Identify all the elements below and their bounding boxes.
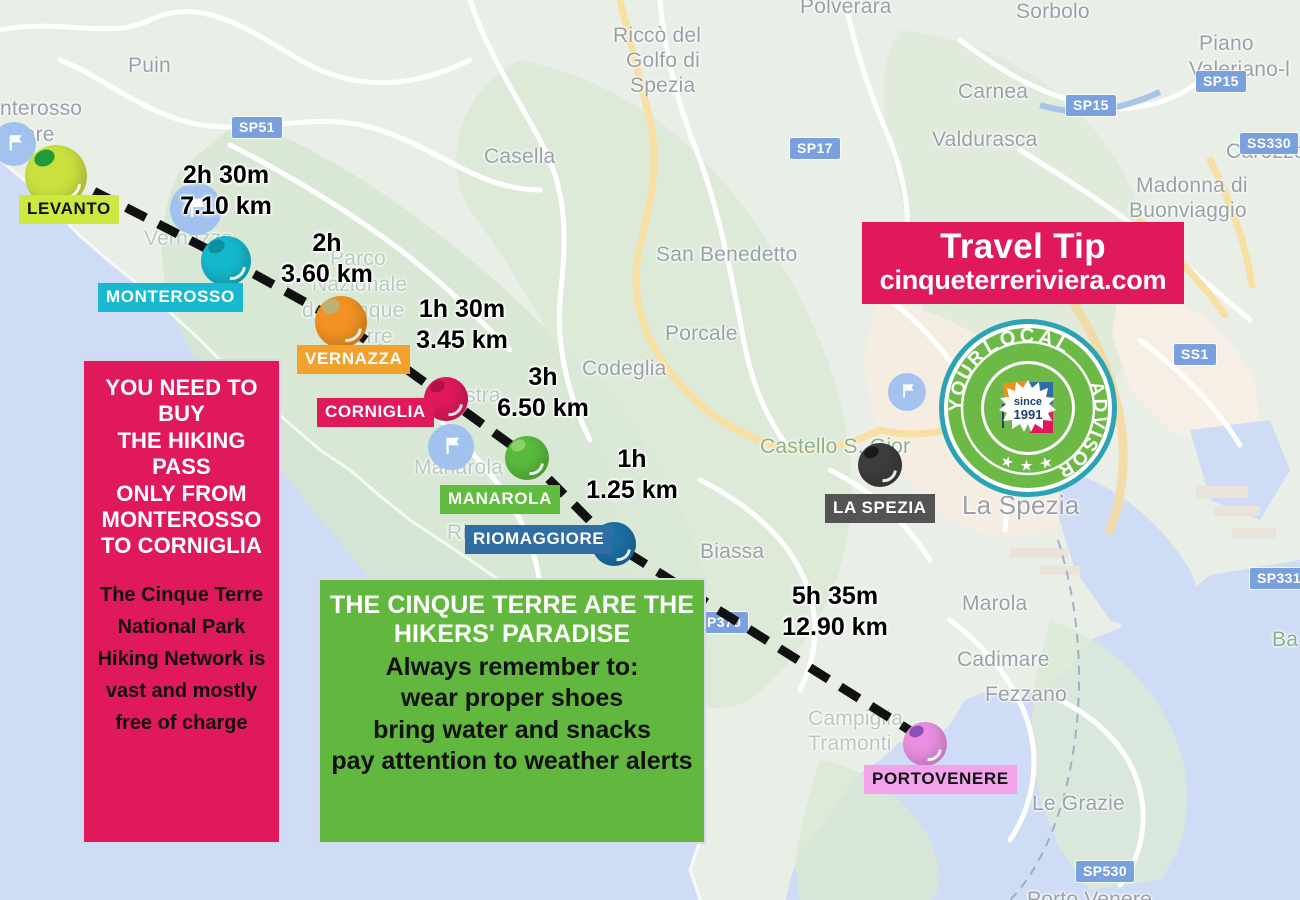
hiking-pass-heading: YOU NEED TO BUYTHE HIKING PASSONLY FROMM… [92, 375, 271, 560]
segment-levanto-monterosso: 2h 30m7.10 km [151, 160, 301, 221]
segment-riomaggiore-portovenere: 5h 35m12.90 km [748, 581, 922, 642]
town-label-monterosso[interactable]: MONTEROSSO [98, 283, 243, 312]
map-marker-manarola[interactable] [505, 436, 549, 480]
map-marker-vernazza[interactable] [315, 296, 367, 348]
hikers-paradise-panel: THE CINQUE TERRE ARE THE HIKERS' PARADIS… [318, 578, 706, 844]
hikers-paradise-body: Always remember to:wear proper shoesbrin… [329, 652, 695, 778]
map-marker-portovenere[interactable] [903, 722, 947, 766]
segment-distance: 6.50 km [466, 393, 620, 424]
segment-manarola-riomaggiore: 1h1.25 km [556, 444, 708, 505]
segment-time: 2h [251, 228, 403, 259]
map-marker-monterosso[interactable] [201, 236, 251, 286]
your-local-advisor-badge: since 1991 LOCAL ★ ★ ★ YOUR ADVISOR [938, 318, 1118, 498]
town-label-manarola[interactable]: MANAROLA [440, 485, 560, 514]
segment-time: 3h [466, 362, 620, 393]
segment-time: 1h [556, 444, 708, 475]
segment-corniglia-manarola: 3h6.50 km [466, 362, 620, 423]
travel-tip-title: Travel Tip [868, 228, 1178, 266]
segment-distance: 1.25 km [556, 475, 708, 506]
town-label-portovenere[interactable]: PORTOVENERE [864, 765, 1017, 794]
segment-distance: 3.60 km [251, 259, 403, 290]
town-label-corniglia[interactable]: CORNIGLIA [317, 398, 434, 427]
hiking-pass-info-panel: YOU NEED TO BUYTHE HIKING PASSONLY FROMM… [82, 359, 281, 844]
town-label-la-spezia[interactable]: LA SPEZIA [825, 494, 935, 523]
cinque-terre-hiking-map: PuinnterossoMareCasellaRiccò delGolfo di… [0, 0, 1300, 900]
segment-monterosso-vernazza: 2h3.60 km [251, 228, 403, 289]
travel-tip-banner: Travel Tip cinqueterreriviera.com [862, 222, 1184, 304]
segment-vernazza-corniglia: 1h 30m3.45 km [386, 294, 538, 355]
segment-time: 5h 35m [748, 581, 922, 612]
badge-since-year: 1991 [1014, 407, 1043, 422]
segment-time: 2h 30m [151, 160, 301, 191]
segment-distance: 7.10 km [151, 191, 301, 222]
town-label-levanto[interactable]: LEVANTO [19, 195, 119, 224]
map-marker-la-spezia[interactable] [858, 443, 902, 487]
town-label-riomaggiore[interactable]: RIOMAGGIORE [465, 525, 612, 554]
travel-tip-website[interactable]: cinqueterreriviera.com [868, 266, 1178, 295]
segment-time: 1h 30m [386, 294, 538, 325]
segment-distance: 12.90 km [748, 612, 922, 643]
segment-distance: 3.45 km [386, 325, 538, 356]
hikers-paradise-heading: THE CINQUE TERRE ARE THE HIKERS' PARADIS… [329, 591, 695, 650]
hiking-pass-body: The Cinque Terre National Park Hiking Ne… [92, 579, 271, 739]
